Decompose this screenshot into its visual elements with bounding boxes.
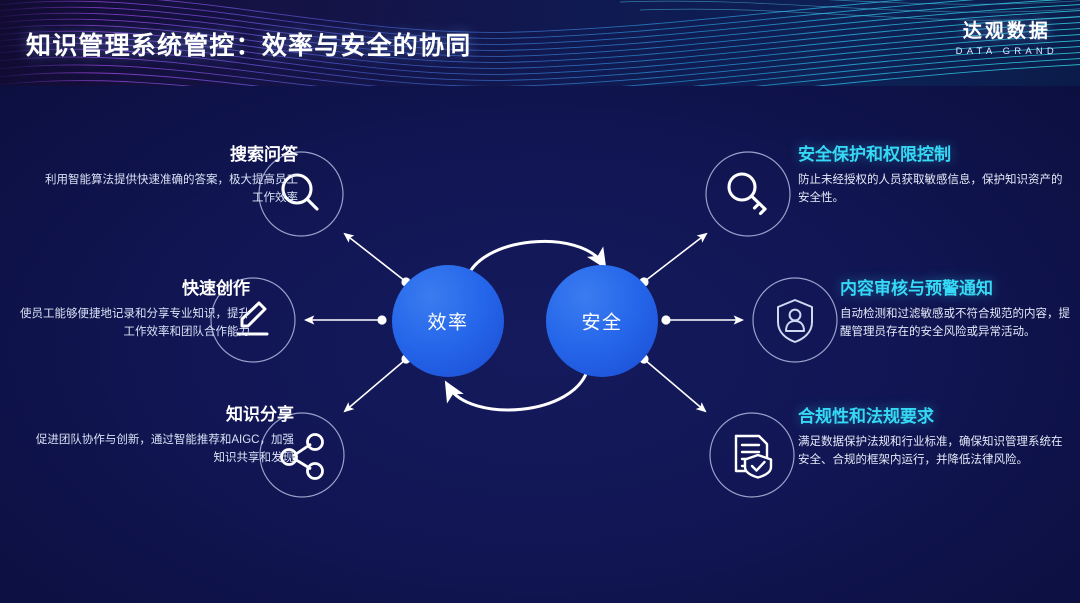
spoke-line-share [345, 360, 405, 411]
hub-label-security: 安全 [581, 308, 622, 335]
node-desc-create: 使员工能够便捷地记录和分享专业知识，提升工作效率和团队合作能力 [10, 306, 250, 342]
hub-label-efficiency: 效率 [427, 308, 468, 335]
node-desc-compliance: 满足数据保护法规和行业标准，确保知识管理系统在安全、合规的框架内运行，并降低法律… [798, 434, 1066, 470]
node-title-create: 快速创作 [10, 274, 250, 299]
spoke-line-security [645, 234, 706, 281]
node-text-create: 快速创作 使员工能够便捷地记录和分享专业知识，提升工作效率和团队合作能力 [10, 274, 250, 342]
header-band: 知识管理系统管控：效率与安全的协同 达观数据 DATA GRAND [0, 0, 1080, 86]
spoke-dot-create [377, 315, 386, 324]
page-title: 知识管理系统管控：效率与安全的协同 [26, 26, 471, 62]
node-desc-share: 促进团队协作与创新，通过智能推荐和AIGC，加强知识共享和发现 [28, 432, 294, 468]
node-title-search: 搜索问答 [38, 140, 298, 165]
logo-text-cn: 达观数据 [956, 16, 1058, 43]
icon-circle-compliance [710, 413, 794, 497]
node-text-audit: 内容审核与预警通知 自动检测和过滤敏感或不符合规范的内容，提醒管理员存在的安全风… [840, 274, 1072, 342]
brand-logo: 达观数据 DATA GRAND [956, 16, 1058, 57]
document-shield-check-icon [736, 436, 771, 478]
node-title-share: 知识分享 [28, 400, 294, 425]
node-desc-search: 利用智能算法提供快速准确的答案，极大提高员工工作效率 [38, 172, 298, 208]
node-text-compliance: 合规性和法规要求 满足数据保护法规和行业标准，确保知识管理系统在安全、合规的框架… [798, 402, 1066, 470]
node-desc-audit: 自动检测和过滤敏感或不符合规范的内容，提醒管理员存在的安全风险或异常活动。 [840, 306, 1072, 342]
cycle-arrow-bottom [448, 368, 588, 410]
icon-circle-audit [753, 278, 837, 362]
key-icon [729, 174, 765, 214]
node-title-audit: 内容审核与预警通知 [840, 274, 1072, 299]
node-title-security: 安全保护和权限控制 [798, 140, 1066, 165]
node-desc-security: 防止未经授权的人员获取敏感信息，保护知识资产的安全性。 [798, 172, 1066, 208]
spoke-line-compliance [645, 360, 705, 411]
node-text-share: 知识分享 促进团队协作与创新，通过智能推荐和AIGC，加强知识共享和发现 [28, 400, 294, 468]
node-text-search: 搜索问答 利用智能算法提供快速准确的答案，极大提高员工工作效率 [38, 140, 298, 208]
slide-canvas: 知识管理系统管控：效率与安全的协同 达观数据 DATA GRAND [0, 0, 1080, 603]
logo-text-en: DATA GRAND [956, 46, 1058, 57]
node-title-compliance: 合规性和法规要求 [798, 402, 1066, 427]
icon-circle-security [706, 152, 790, 236]
node-text-security: 安全保护和权限控制 防止未经授权的人员获取敏感信息，保护知识资产的安全性。 [798, 140, 1066, 208]
shield-user-icon [778, 300, 812, 342]
spoke-line-search [345, 234, 405, 281]
spoke-dot-audit [661, 315, 670, 324]
